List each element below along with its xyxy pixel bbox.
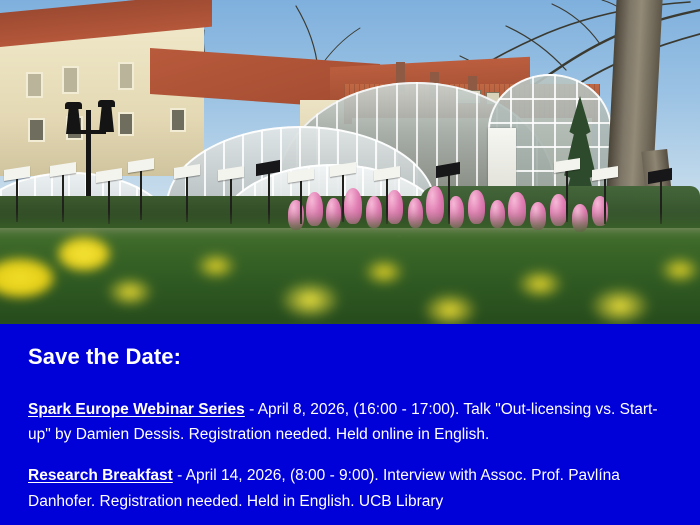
event-item: Research Breakfast - April 14, 2026, (8:… — [28, 463, 674, 513]
building-window — [26, 72, 43, 98]
foreground-grass — [0, 232, 700, 324]
white-banner-sign — [488, 128, 516, 190]
page-title: Save the Date: — [28, 345, 674, 369]
event-title-link[interactable]: Research Breakfast — [28, 467, 173, 484]
lamp-cap — [65, 102, 82, 109]
header-photo — [0, 0, 700, 324]
building-window — [118, 62, 134, 90]
event-item: Spark Europe Webinar Series - April 8, 2… — [28, 397, 674, 447]
building-window — [28, 118, 45, 142]
label-stake — [140, 168, 142, 220]
save-the-date-panel: Save the Date: Spark Europe Webinar Seri… — [0, 324, 700, 525]
building-window — [62, 66, 79, 94]
event-title-link[interactable]: Spark Europe Webinar Series — [28, 401, 245, 418]
newsletter-announcement: Save the Date: Spark Europe Webinar Seri… — [0, 0, 700, 525]
building-window — [118, 112, 134, 136]
lamp-cap — [98, 100, 115, 107]
